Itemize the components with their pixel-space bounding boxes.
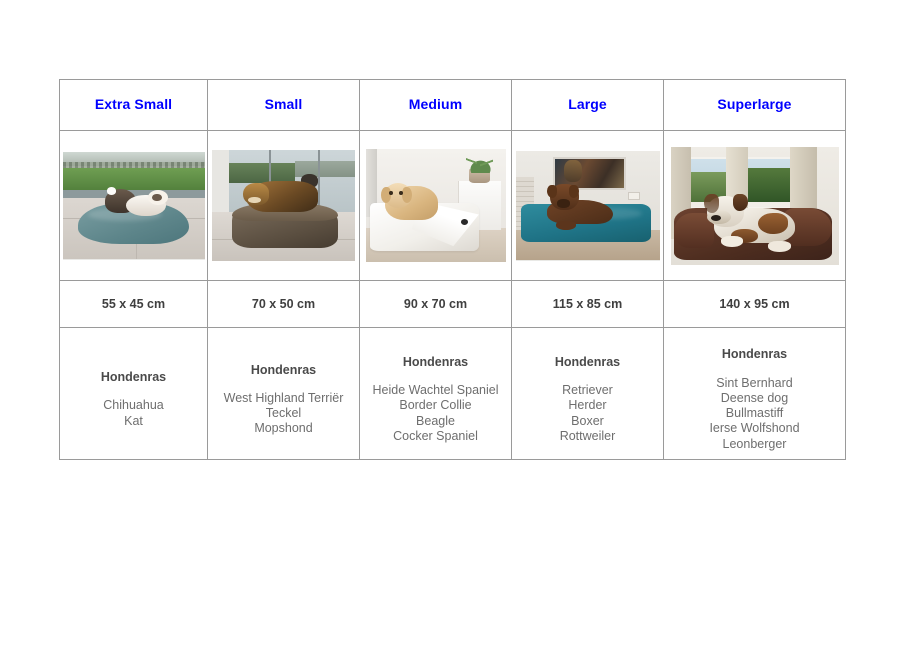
- breeds-cell-large: Hondenras Retriever Herder Boxer Rottwei…: [512, 328, 664, 460]
- breeds-cell-extra-small: Hondenras Chihuahua Kat: [60, 328, 208, 460]
- dimensions-cell-small: 70 x 50 cm: [208, 281, 360, 328]
- breed-item: Heide Wachtel Spaniel: [360, 383, 511, 398]
- breed-item: Bullmastiff: [664, 406, 845, 421]
- size-header-cell-small: Small: [208, 80, 360, 131]
- dimensions-cell-large: 115 x 85 cm: [512, 281, 664, 328]
- breeds-row: Hondenras Chihuahua Kat Hondenras West H…: [60, 328, 846, 460]
- breeds-list-extra-small: Chihuahua Kat: [60, 398, 207, 429]
- dog-bed-size-table: Extra Small Small Medium Large Superlarg…: [59, 79, 846, 460]
- photo-wrap-large: [512, 131, 663, 280]
- size-header-label-medium: Medium: [360, 97, 511, 112]
- breeds-title-small: Hondenras: [208, 363, 359, 378]
- product-photo-cell-extra-small: [60, 131, 208, 281]
- breeds-cell-small: Hondenras West Highland Terriër Teckel M…: [208, 328, 360, 460]
- size-header-cell-extra-small: Extra Small: [60, 80, 208, 131]
- dimensions-text-small: 70 x 50 cm: [208, 297, 359, 311]
- breed-item: Leonberger: [664, 437, 845, 452]
- photo-wrap-superlarge: [664, 131, 845, 280]
- breed-item: Cocker Spaniel: [360, 429, 511, 444]
- breeds-list-small: West Highland Terriër Teckel Mopshond: [208, 391, 359, 437]
- breed-item: Chihuahua: [60, 398, 207, 413]
- breeds-list-large: Retriever Herder Boxer Rottweiler: [512, 383, 663, 444]
- size-header-label-extra-small: Extra Small: [60, 97, 207, 112]
- dimensions-text-medium: 90 x 70 cm: [360, 297, 511, 311]
- breed-item: Herder: [512, 398, 663, 413]
- breeds-cell-medium: Hondenras Heide Wachtel Spaniel Border C…: [360, 328, 512, 460]
- size-header-row: Extra Small Small Medium Large Superlarg…: [60, 80, 846, 131]
- breeds-title-extra-small: Hondenras: [60, 370, 207, 385]
- breed-item: Teckel: [208, 406, 359, 421]
- dimensions-cell-medium: 90 x 70 cm: [360, 281, 512, 328]
- breed-item: Boxer: [512, 414, 663, 429]
- size-header-cell-large: Large: [512, 80, 664, 131]
- breeds-title-superlarge: Hondenras: [664, 347, 845, 362]
- breeds-list-medium: Heide Wachtel Spaniel Border Collie Beag…: [360, 383, 511, 444]
- product-photo-small: [212, 150, 355, 261]
- product-photo-cell-superlarge: [664, 131, 846, 281]
- breed-item: Ierse Wolfshond: [664, 421, 845, 436]
- breed-item: Mopshond: [208, 421, 359, 436]
- breed-item: Kat: [60, 414, 207, 429]
- breeds-cell-superlarge: Hondenras Sint Bernhard Deense dog Bullm…: [664, 328, 846, 460]
- product-photo-superlarge: [671, 147, 839, 265]
- breed-item: Border Collie: [360, 398, 511, 413]
- breed-item: Retriever: [512, 383, 663, 398]
- product-photo-cell-large: [512, 131, 664, 281]
- breeds-list-superlarge: Sint Bernhard Deense dog Bullmastiff Ier…: [664, 376, 845, 452]
- product-photo-large: [516, 151, 660, 261]
- product-photo-extra-small: [63, 152, 205, 260]
- breed-item: Sint Bernhard: [664, 376, 845, 391]
- breed-item: Deense dog: [664, 391, 845, 406]
- size-header-label-large: Large: [512, 97, 663, 112]
- product-photo-cell-small: [208, 131, 360, 281]
- size-header-label-small: Small: [208, 97, 359, 112]
- breed-item: Rottweiler: [512, 429, 663, 444]
- photo-wrap-extra-small: [60, 131, 207, 280]
- product-photo-cell-medium: [360, 131, 512, 281]
- dimensions-text-large: 115 x 85 cm: [512, 297, 663, 311]
- breeds-title-medium: Hondenras: [360, 355, 511, 370]
- photo-wrap-small: [208, 131, 359, 280]
- size-header-cell-medium: Medium: [360, 80, 512, 131]
- size-header-cell-superlarge: Superlarge: [664, 80, 846, 131]
- dimensions-text-superlarge: 140 x 95 cm: [664, 297, 845, 311]
- breed-item: West Highland Terriër: [208, 391, 359, 406]
- dimensions-cell-extra-small: 55 x 45 cm: [60, 281, 208, 328]
- breeds-title-large: Hondenras: [512, 355, 663, 370]
- photo-wrap-medium: [360, 131, 511, 280]
- dimensions-row: 55 x 45 cm 70 x 50 cm 90 x 70 cm 115 x 8…: [60, 281, 846, 328]
- dimensions-text-extra-small: 55 x 45 cm: [60, 297, 207, 311]
- product-photo-row: [60, 131, 846, 281]
- product-photo-medium: [366, 149, 506, 262]
- breed-item: Beagle: [360, 414, 511, 429]
- size-header-label-superlarge: Superlarge: [664, 97, 845, 112]
- dimensions-cell-superlarge: 140 x 95 cm: [664, 281, 846, 328]
